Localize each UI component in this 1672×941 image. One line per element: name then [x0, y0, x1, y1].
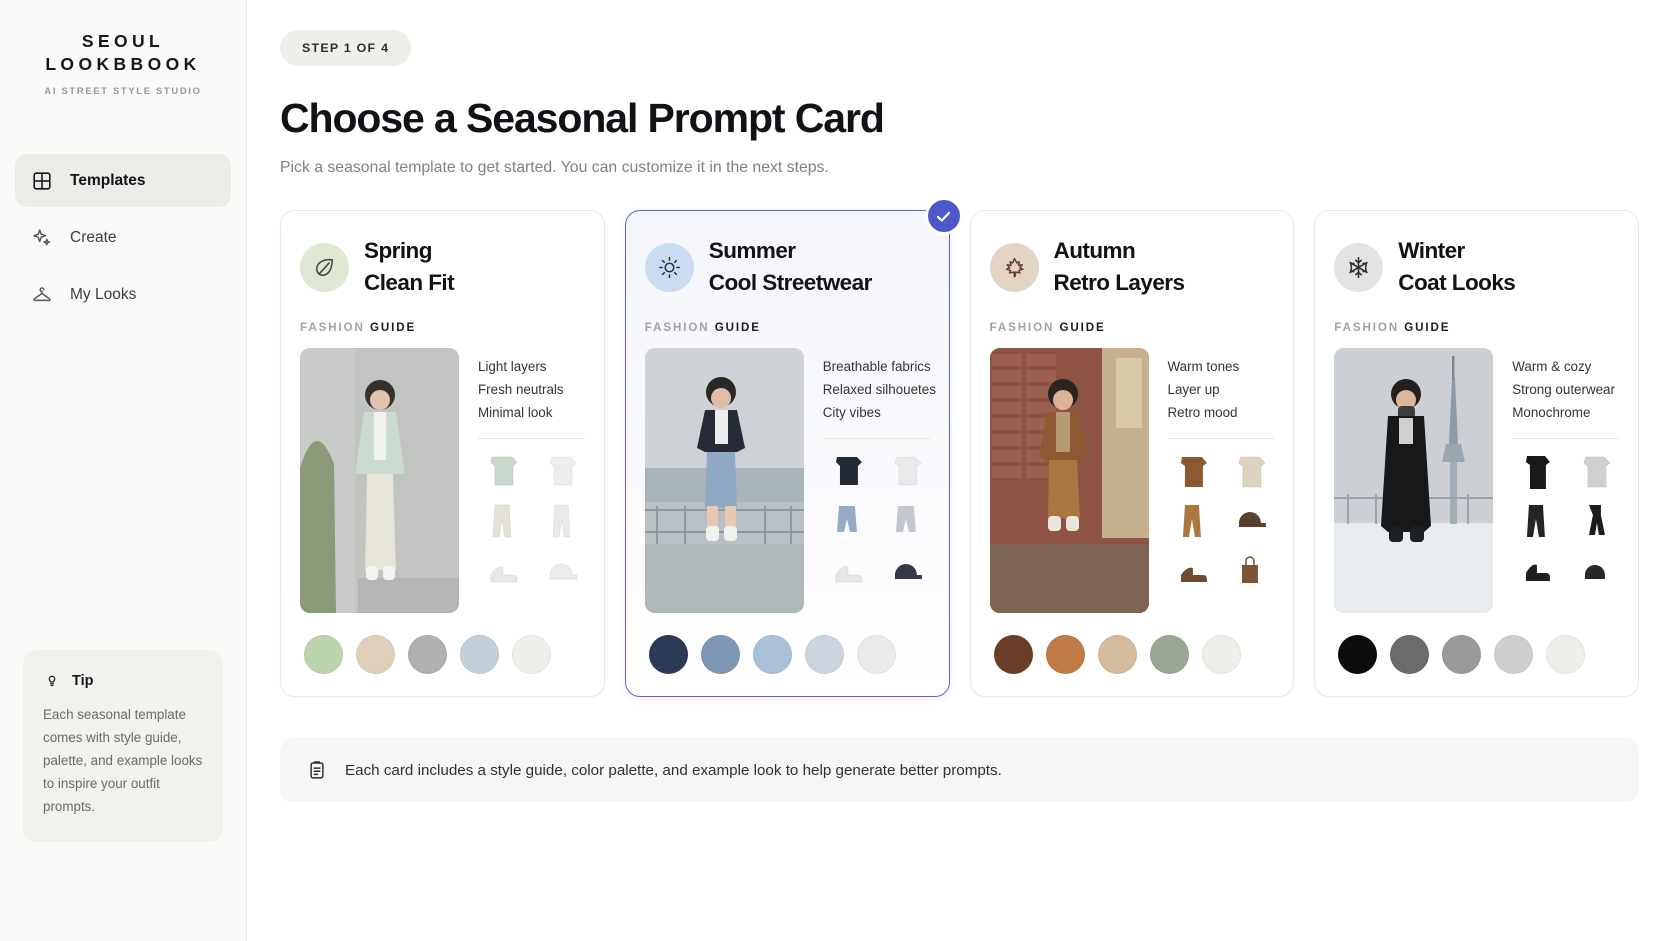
color-palette [300, 635, 585, 674]
page-subtitle: Pick a seasonal template to get started.… [280, 159, 1672, 177]
leaf-icon [300, 243, 349, 292]
item-thumb-tan-trousers [1168, 501, 1216, 541]
sun-icon [645, 243, 694, 292]
lightbulb-icon [43, 672, 61, 690]
guide-label-bold: GUIDE [1059, 321, 1105, 334]
item-thumb-cream-knit [1226, 451, 1274, 491]
snowflake-icon [1334, 243, 1383, 292]
item-thumb-black-beanie [1571, 551, 1619, 591]
guide-label-light: FASHION [300, 321, 365, 334]
palette-swatch[interactable] [1442, 635, 1481, 674]
item-thumb-black-trousers [1512, 501, 1560, 541]
look-photo [645, 348, 804, 613]
guide-label-bold: GUIDE [370, 321, 416, 334]
item-thumb-black-coat [1512, 451, 1560, 491]
look-photo [300, 348, 459, 613]
palette-swatch[interactable] [1494, 635, 1533, 674]
look-photo [990, 348, 1149, 613]
palette-swatch[interactable] [1150, 635, 1189, 674]
selected-check-icon [925, 197, 963, 235]
card-right-column: Warm tones Layer up Retro mood [1168, 348, 1275, 591]
feature-item: Breathable fabrics [823, 355, 930, 378]
card-header: Winter Coat Looks [1334, 235, 1619, 299]
palette-swatch[interactable] [304, 635, 343, 674]
template-card-spring[interactable]: Spring Clean Fit FASHION GUIDE [280, 210, 605, 697]
guide-label: FASHION GUIDE [990, 321, 1275, 334]
item-thumb-denim-shorts [823, 501, 871, 541]
palette-swatch[interactable] [1202, 635, 1241, 674]
guide-label: FASHION GUIDE [300, 321, 585, 334]
tip-card: Tip Each seasonal template comes with st… [23, 650, 223, 842]
palette-swatch[interactable] [649, 635, 688, 674]
card-body: Warm tones Layer up Retro mood [990, 348, 1275, 613]
feature-item: Strong outerwear [1512, 378, 1619, 401]
palette-swatch[interactable] [805, 635, 844, 674]
palette-swatch[interactable] [356, 635, 395, 674]
guide-label-light: FASHION [645, 321, 710, 334]
divider [823, 438, 930, 439]
card-title-block: Spring Clean Fit [364, 235, 454, 299]
item-thumb-white-tee [882, 451, 930, 491]
item-thumb-navy-shirt [823, 451, 871, 491]
color-palette [1334, 635, 1619, 674]
look-photo [1334, 348, 1493, 613]
card-header: Spring Clean Fit [300, 235, 585, 299]
guide-label-bold: GUIDE [715, 321, 761, 334]
app-root: SEOUL LOOKBBOOK AI STREET STYLE STUDIO T… [0, 0, 1672, 941]
item-thumb-black-boots [1512, 551, 1560, 591]
sidebar-nav: Templates Create [0, 154, 246, 321]
sidebar-item-my-looks[interactable]: My Looks [15, 268, 231, 321]
feature-item: Relaxed silhouetes [823, 378, 930, 401]
feature-item: Light layers [478, 355, 585, 378]
divider [478, 438, 585, 439]
feature-item: Warm tones [1168, 355, 1275, 378]
palette-swatch[interactable] [1338, 635, 1377, 674]
template-card-autumn[interactable]: Autumn Retro Layers FASHION GUIDE [970, 210, 1295, 697]
palette-swatch[interactable] [857, 635, 896, 674]
info-banner-text: Each card includes a style guide, color … [345, 762, 1002, 779]
palette-swatch[interactable] [753, 635, 792, 674]
card-right-column: Light layers Fresh neutrals Minimal look [478, 348, 585, 591]
item-thumb-brown-loafers [1168, 551, 1216, 591]
guide-label: FASHION GUIDE [645, 321, 930, 334]
card-right-column: Warm & cozy Strong outerwear Monochrome [1512, 348, 1619, 591]
card-body: Light layers Fresh neutrals Minimal look [300, 348, 585, 613]
item-thumb-white-cap [537, 551, 585, 591]
card-style: Cool Streetwear [709, 267, 872, 299]
feature-item: City vibes [823, 401, 930, 424]
palette-swatch[interactable] [460, 635, 499, 674]
hanger-icon [31, 284, 53, 306]
guide-label-light: FASHION [990, 321, 1055, 334]
palette-swatch[interactable] [1546, 635, 1585, 674]
palette-swatch[interactable] [1098, 635, 1137, 674]
item-thumb-brown-jacket [1168, 451, 1216, 491]
template-card-summer[interactable]: Summer Cool Streetwear FASHION GUIDE [625, 210, 950, 697]
palette-swatch[interactable] [408, 635, 447, 674]
palette-swatch[interactable] [701, 635, 740, 674]
step-badge: STEP 1 OF 4 [280, 30, 411, 66]
item-thumb-navy-cap [882, 551, 930, 591]
example-items-grid [1168, 451, 1275, 591]
palette-swatch[interactable] [1046, 635, 1085, 674]
brand-line-2: LOOKBBOOK [20, 53, 226, 76]
page-title: Choose a Seasonal Prompt Card [280, 95, 1672, 142]
item-thumb-light-denim-shorts [882, 501, 930, 541]
sidebar: SEOUL LOOKBBOOK AI STREET STYLE STUDIO T… [0, 0, 247, 941]
template-card-grid: Spring Clean Fit FASHION GUIDE [280, 210, 1672, 697]
card-header: Autumn Retro Layers [990, 235, 1275, 299]
feature-item: Layer up [1168, 378, 1275, 401]
color-palette [645, 635, 930, 674]
card-title-block: Autumn Retro Layers [1054, 235, 1185, 299]
brand-block: SEOUL LOOKBBOOK AI STREET STYLE STUDIO [0, 0, 246, 96]
feature-item: Minimal look [478, 401, 585, 424]
guide-label-bold: GUIDE [1404, 321, 1450, 334]
feature-item: Retro mood [1168, 401, 1275, 424]
card-body: Breathable fabrics Relaxed silhouetes Ci… [645, 348, 930, 613]
main-content: STEP 1 OF 4 Choose a Seasonal Prompt Car… [247, 0, 1672, 941]
card-style: Clean Fit [364, 267, 454, 299]
divider [1168, 438, 1275, 439]
guide-label-light: FASHION [1334, 321, 1399, 334]
item-thumb-white-pants [537, 501, 585, 541]
item-thumb-mint-overshirt [478, 451, 526, 491]
item-thumb-cream-trousers [478, 501, 526, 541]
clipboard-icon [306, 759, 328, 781]
card-season: Summer [709, 235, 872, 267]
item-thumb-brown-cap [1226, 501, 1274, 541]
card-title-block: Winter Coat Looks [1398, 235, 1515, 299]
feature-item: Fresh neutrals [478, 378, 585, 401]
card-right-column: Breathable fabrics Relaxed silhouetes Ci… [823, 348, 930, 591]
template-card-winter[interactable]: Winter Coat Looks FASHION GUIDE [1314, 210, 1639, 697]
tip-header: Tip [43, 672, 203, 690]
sidebar-item-label: Create [70, 229, 117, 247]
brand-subtitle: AI STREET STYLE STUDIO [20, 85, 226, 96]
example-items-grid [478, 451, 585, 591]
example-items-grid [1512, 451, 1619, 591]
card-season: Autumn [1054, 235, 1185, 267]
item-thumb-black-scarf [1571, 501, 1619, 541]
sidebar-item-label: My Looks [70, 286, 136, 304]
palette-swatch[interactable] [994, 635, 1033, 674]
tip-body: Each seasonal template comes with style … [43, 703, 203, 818]
tip-title: Tip [72, 673, 93, 689]
card-title-block: Summer Cool Streetwear [709, 235, 872, 299]
card-season: Spring [364, 235, 454, 267]
brand-line-1: SEOUL [20, 30, 226, 53]
guide-label: FASHION GUIDE [1334, 321, 1619, 334]
item-thumb-white-sneakers [478, 551, 526, 591]
maple-leaf-icon [990, 243, 1039, 292]
sidebar-item-create[interactable]: Create [15, 211, 231, 264]
palette-swatch[interactable] [512, 635, 551, 674]
color-palette [990, 635, 1275, 674]
grid-icon [31, 170, 53, 192]
sidebar-item-templates[interactable]: Templates [15, 154, 231, 207]
info-banner: Each card includes a style guide, color … [280, 738, 1639, 802]
item-thumb-white-sneakers [823, 551, 871, 591]
card-body: Warm & cozy Strong outerwear Monochrome [1334, 348, 1619, 613]
card-style: Retro Layers [1054, 267, 1185, 299]
card-style: Coat Looks [1398, 267, 1515, 299]
palette-swatch[interactable] [1390, 635, 1429, 674]
card-header: Summer Cool Streetwear [645, 235, 930, 299]
sidebar-item-label: Templates [70, 172, 146, 190]
feature-item: Warm & cozy [1512, 355, 1619, 378]
sparkles-icon [31, 227, 53, 249]
item-thumb-gray-knit [1571, 451, 1619, 491]
item-thumb-white-tee [537, 451, 585, 491]
feature-item: Monochrome [1512, 401, 1619, 424]
divider [1512, 438, 1619, 439]
example-items-grid [823, 451, 930, 591]
item-thumb-brown-bag [1226, 551, 1274, 591]
card-season: Winter [1398, 235, 1515, 267]
